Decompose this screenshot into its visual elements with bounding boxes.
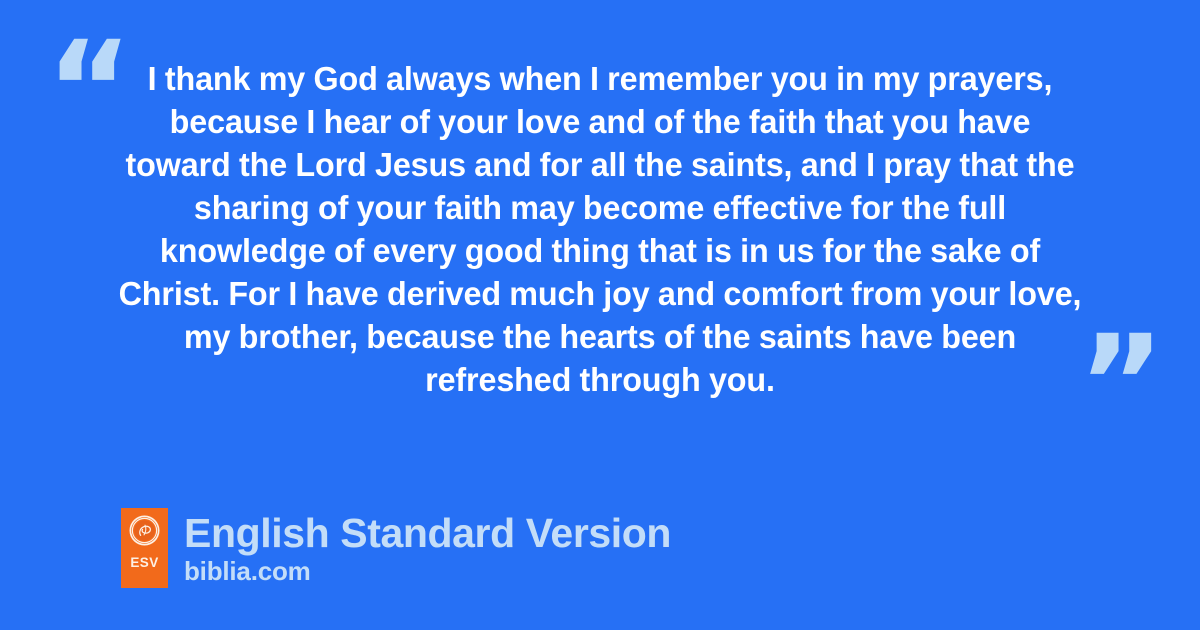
verse-card: “ ” I thank my God always when I remembe… <box>0 0 1200 630</box>
esv-logo-badge: ESV <box>121 508 168 588</box>
attribution-text: English Standard Version biblia.com <box>184 508 671 585</box>
verse-text: I thank my God always when I remember yo… <box>118 58 1083 402</box>
bible-version-name: English Standard Version <box>184 511 671 555</box>
esv-seal-icon <box>129 515 160 546</box>
esv-abbreviation-label: ESV <box>130 556 158 570</box>
verse-text-container: I thank my God always when I remember yo… <box>0 58 1200 402</box>
site-name[interactable]: biblia.com <box>184 557 671 585</box>
attribution: ESV English Standard Version biblia.com <box>121 508 671 588</box>
